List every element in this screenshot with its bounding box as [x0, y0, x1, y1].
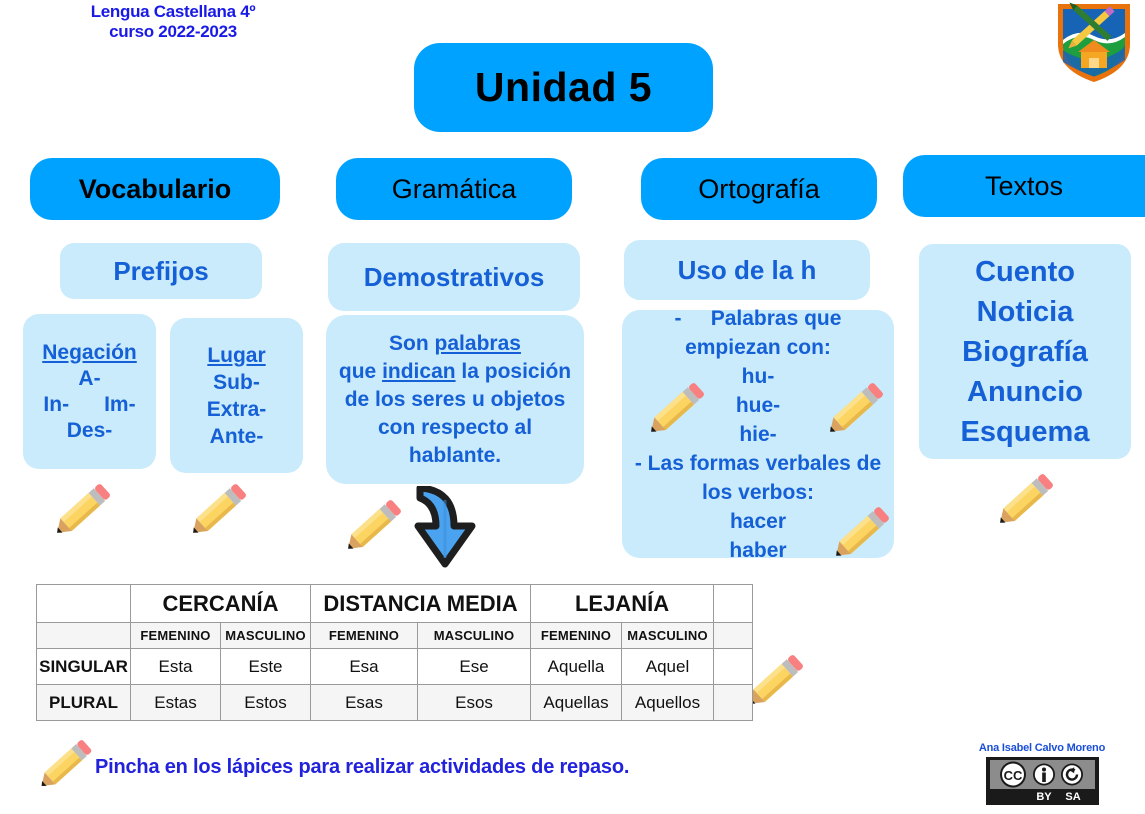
orto-line7: los verbos:: [702, 478, 814, 507]
negacion-line3: Des-: [67, 418, 113, 444]
table-rowlabel-singular: SINGULAR: [37, 649, 131, 685]
course-label-line1: Lengua Castellana 4º: [68, 2, 278, 22]
table-header-distancia-media: DISTANCIA MEDIA: [311, 585, 531, 623]
gram-line1-plain: Son: [389, 332, 435, 355]
box-negacion: Negación A- In- Im- Des-: [23, 314, 156, 469]
pencil-icon-footer[interactable]: [32, 738, 98, 793]
svg-text:BY: BY: [1036, 791, 1052, 803]
table-cell-singular-3: Ese: [418, 649, 531, 685]
table-cell-corner2: [37, 623, 131, 649]
gram-line1: Son palabras: [389, 330, 521, 358]
gram-line2-plain-a: que: [339, 360, 382, 383]
gram-line4: con respecto al: [378, 414, 532, 442]
table-header-cercania-masculino: MASCULINO: [221, 623, 311, 649]
table-cell-spacer-r1: [714, 585, 753, 623]
pencil-icon-ortografia-bottom[interactable]: [826, 505, 896, 563]
gram-line2-plain-b: la posición: [456, 360, 572, 383]
negacion-line2: In- Im-: [43, 392, 135, 418]
box-lugar: Lugar Sub- Extra- Ante-: [170, 318, 303, 473]
orto-line2: empiezan con:: [685, 333, 831, 362]
orto-line8: hacer: [730, 507, 786, 536]
textos-item-1: Noticia: [977, 292, 1074, 332]
table-cell-plural-1: Estos: [221, 685, 311, 721]
demonstratives-table: CERCANÍA DISTANCIA MEDIA LEJANÍA FEMENIN…: [36, 584, 752, 721]
table-cell-corner: [37, 585, 131, 623]
table-row-gender-headers: FEMENINO MASCULINO FEMENINO MASCULINO FE…: [37, 623, 753, 649]
pencil-icon-vocab-lugar[interactable]: [183, 482, 253, 540]
table-row-plural: PLURAL Estas Estos Esas Esos Aquellas Aq…: [37, 685, 753, 721]
subtitle-prefijos: Prefijos: [60, 243, 262, 299]
course-label: Lengua Castellana 4º curso 2022-2023: [68, 2, 278, 42]
subtitle-demostrativos: Demostrativos: [328, 243, 580, 311]
gram-line2: que indican la posición: [339, 358, 571, 386]
table-cell-singular-2: Esa: [311, 649, 418, 685]
orto-line5: hie-: [739, 420, 776, 449]
pencil-icon-gramatica[interactable]: [338, 498, 408, 556]
table-cell-plural-4: Aquellas: [531, 685, 622, 721]
orto-line9: haber: [729, 536, 786, 565]
negacion-line1: A-: [78, 366, 100, 392]
pencil-icon-ortografia-right[interactable]: [820, 381, 890, 439]
table-row-group-headers: CERCANÍA DISTANCIA MEDIA LEJANÍA: [37, 585, 753, 623]
author-credit: Ana Isabel Calvo Moreno: [977, 742, 1107, 754]
table-cell-plural-2: Esas: [311, 685, 418, 721]
table-header-media-masculino: MASCULINO: [418, 623, 531, 649]
table-cell-spacer-r2: [714, 623, 753, 649]
pencil-icon-vocab-negacion[interactable]: [47, 482, 117, 540]
pencil-icon-textos[interactable]: [990, 472, 1060, 530]
box-textos-list: Cuento Noticia Biografía Anuncio Esquema: [919, 244, 1131, 459]
orto-line6: - Las formas verbales de: [635, 449, 881, 478]
creative-commons-badge: CC BY SA: [986, 757, 1099, 805]
category-vocabulario[interactable]: Vocabulario: [30, 158, 280, 220]
lugar-line1: Sub-: [213, 369, 260, 396]
pencil-icon-ortografia-left[interactable]: [641, 381, 711, 439]
gram-line3: de los seres u objetos: [345, 386, 566, 414]
table-header-media-femenino: FEMENINO: [311, 623, 418, 649]
table-cell-singular-5: Aquel: [622, 649, 714, 685]
gram-line5: hablante.: [409, 442, 501, 470]
table-cell-singular-1: Este: [221, 649, 311, 685]
category-ortografia[interactable]: Ortografía: [641, 158, 877, 220]
table-cell-singular-4: Aquella: [531, 649, 622, 685]
gram-line2-underlined: indican: [382, 360, 456, 383]
subtitle-uso-de-la-h: Uso de la h: [624, 240, 870, 300]
orto-line3: hu-: [742, 362, 775, 391]
textos-item-0: Cuento: [975, 252, 1075, 292]
table-rowlabel-plural: PLURAL: [37, 685, 131, 721]
infographic-canvas: Lengua Castellana 4º curso 2022-2023: [0, 0, 1145, 814]
category-gramatica[interactable]: Gramática: [336, 158, 572, 220]
table-cell-plural-5: Aquellos: [622, 685, 714, 721]
textos-item-2: Biografía: [962, 332, 1088, 372]
category-textos[interactable]: Textos: [903, 155, 1145, 217]
svg-text:SA: SA: [1065, 791, 1080, 803]
table-header-lejania: LEJANÍA: [531, 585, 714, 623]
svg-text:CC: CC: [1004, 768, 1023, 783]
textos-item-3: Anuncio: [967, 372, 1083, 412]
table-cell-plural-3: Esos: [418, 685, 531, 721]
lugar-line3: Ante-: [210, 423, 264, 450]
textos-item-4: Esquema: [961, 412, 1090, 452]
orto-line1: - Palabras que: [675, 304, 842, 333]
school-crest-logo: [1052, 0, 1136, 84]
table-header-cercania: CERCANÍA: [131, 585, 311, 623]
table-header-lejania-masculino: MASCULINO: [622, 623, 714, 649]
lugar-heading: Lugar: [207, 342, 265, 369]
table-header-lejania-femenino: FEMENINO: [531, 623, 622, 649]
table-cell-plural-0: Estas: [131, 685, 221, 721]
orto-line4: hue-: [736, 391, 780, 420]
footer-instruction: Pincha en los lápices para realizar acti…: [95, 756, 629, 779]
table-cell-spacer-r4: [714, 685, 753, 721]
table-row-singular: SINGULAR Esta Este Esa Ese Aquella Aquel: [37, 649, 753, 685]
negacion-heading: Negación: [42, 340, 137, 366]
page-title: Unidad 5: [414, 43, 713, 132]
course-label-line2: curso 2022-2023: [68, 22, 278, 42]
lugar-line2: Extra-: [207, 396, 267, 423]
gram-line1-underlined: palabras: [435, 332, 521, 355]
table-cell-spacer-r3: [714, 649, 753, 685]
arrow-down-icon: [398, 486, 496, 568]
table-header-cercania-femenino: FEMENINO: [131, 623, 221, 649]
table-cell-singular-0: Esta: [131, 649, 221, 685]
box-demostrativos-definition: Son palabras que indican la posición de …: [326, 315, 584, 484]
